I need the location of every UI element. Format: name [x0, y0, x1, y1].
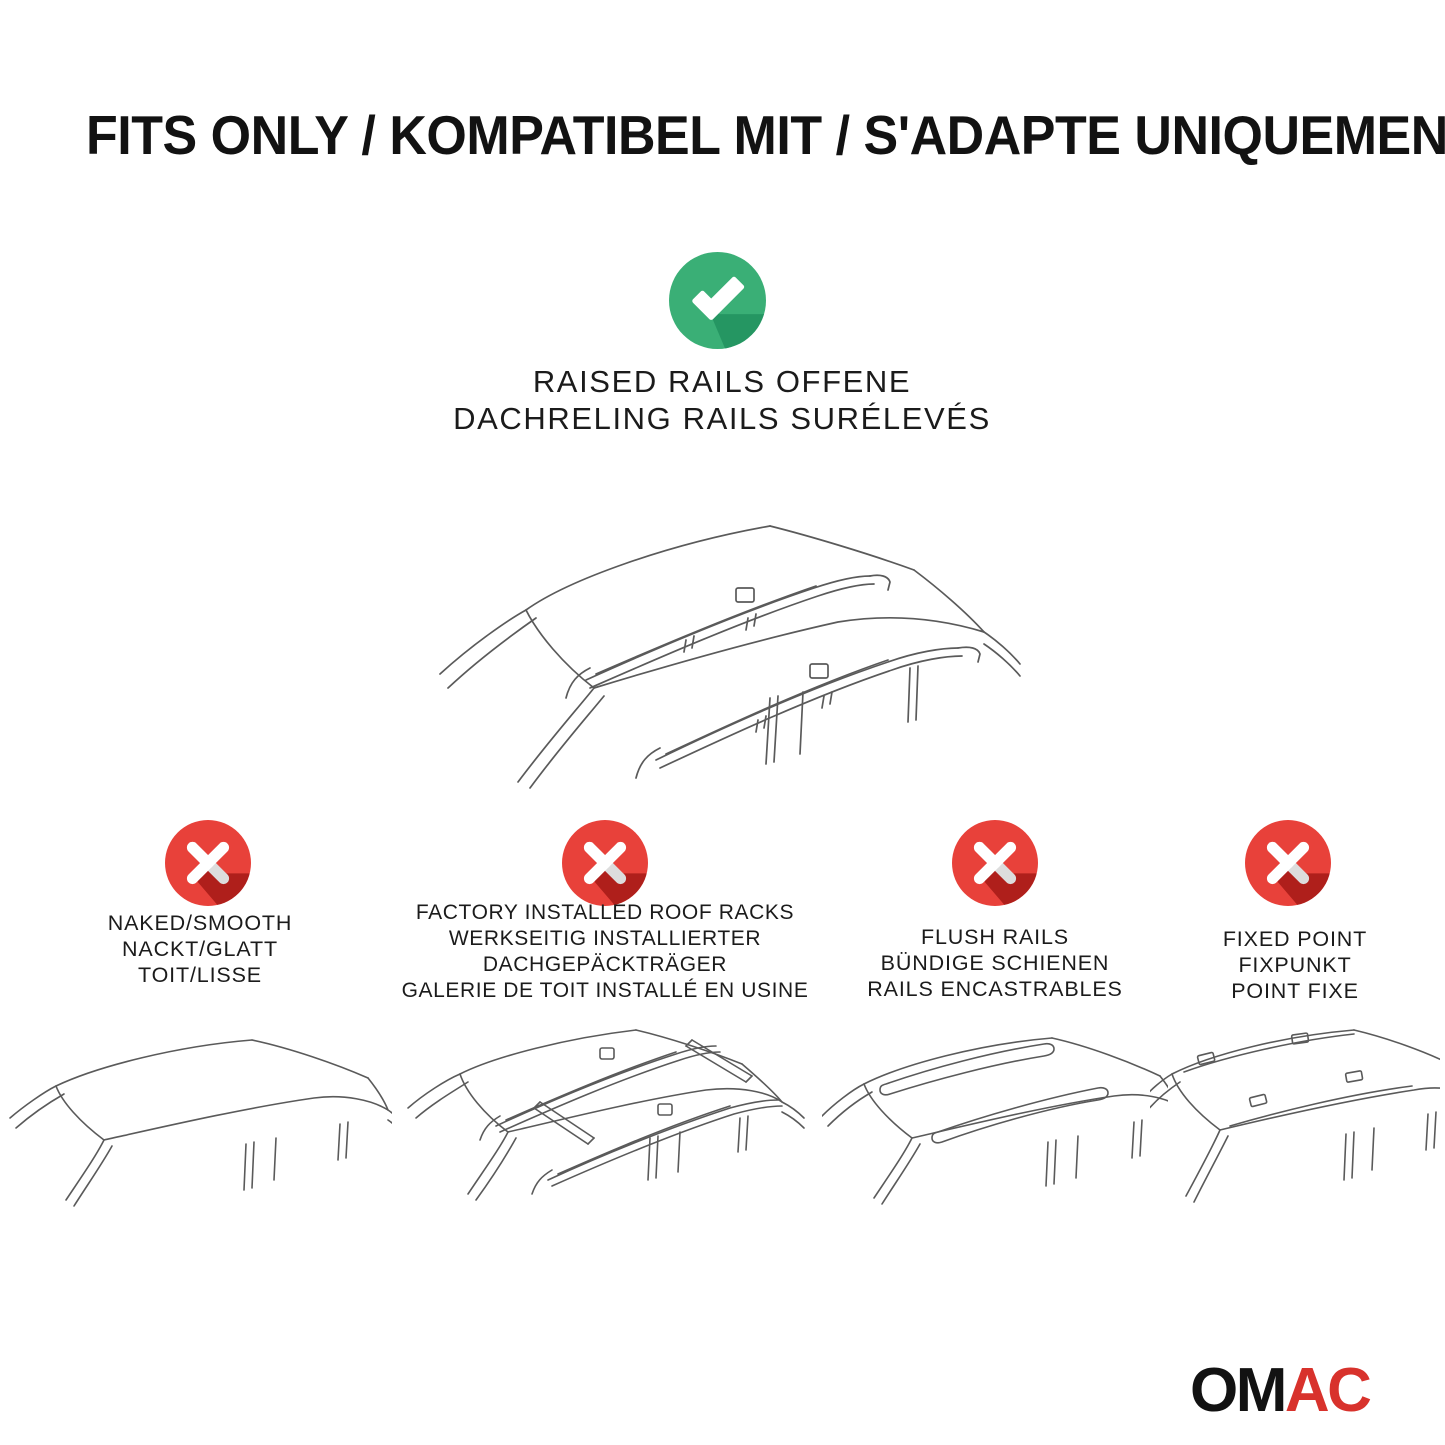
omac-logo: OMAC	[1190, 1358, 1422, 1424]
compatible-section: RAISED RAILS OFFENE DACHRELING RAILS SUR…	[0, 0, 1445, 800]
option-fixed-point: FIXED POINT FIXPUNKT POINT FIXE	[1150, 800, 1440, 1260]
option-factory-roof-racks: FACTORY INSTALLED ROOF RACKS WERKSEITIG …	[368, 800, 842, 1260]
logo-text-accent: AC	[1285, 1356, 1370, 1425]
option-caption: NAKED/SMOOTH NACKT/GLATT TOIT/LISSE	[8, 910, 392, 988]
option-caption: FLUSH RAILS BÜNDIGE SCHIENEN RAILS ENCAS…	[822, 924, 1168, 1002]
car-roof-flush-rails-illustration	[822, 1022, 1168, 1252]
incompatible-section: NAKED/SMOOTH NACKT/GLATT TOIT/LISSE	[0, 800, 1445, 1260]
compatibility-infographic: FITS ONLY / KOMPATIBEL MIT / S'ADAPTE UN…	[0, 0, 1445, 1445]
option-caption: FIXED POINT FIXPUNKT POINT FIXE	[1150, 926, 1440, 1004]
car-roof-naked-smooth-illustration	[8, 1022, 392, 1252]
logo-text-dark: OM	[1190, 1356, 1285, 1425]
x-circle-icon	[952, 820, 1038, 906]
x-circle-icon	[562, 820, 648, 906]
car-roof-fixed-point-illustration	[1150, 1022, 1440, 1252]
check-circle-icon	[669, 252, 766, 349]
car-roof-raised-rails-illustration	[418, 492, 1028, 792]
x-circle-icon	[165, 820, 251, 906]
compatible-caption: RAISED RAILS OFFENE DACHRELING RAILS SUR…	[422, 364, 1022, 437]
option-flush-rails: FLUSH RAILS BÜNDIGE SCHIENEN RAILS ENCAS…	[822, 800, 1168, 1260]
option-naked-smooth: NAKED/SMOOTH NACKT/GLATT TOIT/LISSE	[8, 800, 392, 1260]
x-circle-icon	[1245, 820, 1331, 906]
car-roof-factory-roof-racks-illustration	[368, 1022, 842, 1252]
option-caption: FACTORY INSTALLED ROOF RACKS WERKSEITIG …	[368, 900, 842, 1004]
